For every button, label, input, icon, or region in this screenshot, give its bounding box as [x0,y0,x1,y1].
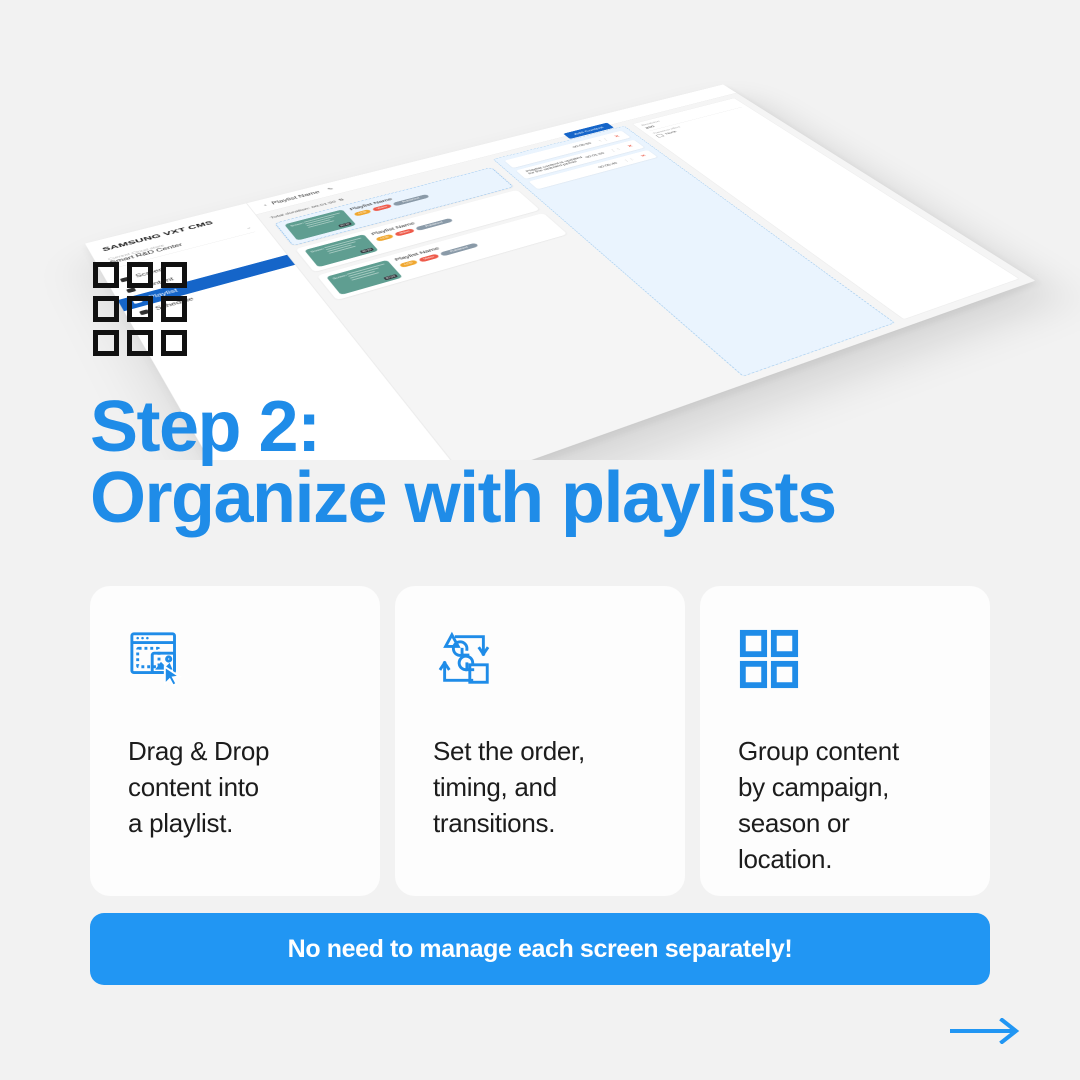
back-icon[interactable]: ‹ [263,203,269,207]
playlist-card-meta: Playlist Name LCD Video Published [348,172,504,224]
editor-row-controls: 00:01:00 ⋮⋮ ✕ [584,144,635,159]
playlist-card[interactable]: Screen 00:10 Playlist Name LCD Video Pub… [275,167,514,245]
drag-handle-icon[interactable]: ⋮⋮ [622,157,636,162]
feature-card-order-timing: Set the order, timing, and transitions. [395,586,685,896]
grid-cell [93,296,119,322]
thumbnail-duration-badge: 00:10 [338,222,352,228]
playlist-thumbnail: Screen 00:20 [326,260,403,295]
resolution-value: 200 [644,103,742,131]
playlist-card-name: Playlist Name [393,217,544,262]
playlist-card-name: Playlist Name [370,194,518,236]
editor-row[interactable]: 00:00:40 ⋮⋮ ✕ [529,150,658,189]
status-badge: LCD [353,209,371,216]
grid-cell [93,330,119,356]
grid-cell [161,296,187,322]
status-badge: LCD [375,234,394,242]
feature-card-text: Group content by campaign, season or loc… [738,734,952,878]
thumbnail-duration-badge: 00:20 [383,274,398,280]
arrow-right-icon[interactable] [948,1018,1022,1044]
status-badge: Published [415,218,453,231]
editor-row-controls: 00:00:50 ⋮⋮ ✕ [571,134,621,149]
sort-icon[interactable]: ⇅ [337,198,345,202]
editor-row-duration: 00:00:50 [572,142,593,149]
editor-row-controls: 00:00:40 ⋮⋮ ✕ [597,154,648,170]
delete-icon[interactable]: ✕ [613,134,622,138]
cta-banner[interactable]: No need to manage each screen separately… [90,913,990,985]
feature-card-text: Drag & Drop content into a playlist. [128,734,342,842]
grid-3x3-icon [93,262,187,356]
grid-group-icon [738,628,800,690]
resolution-label: Resolution [641,101,735,126]
checkbox-label: None [665,130,678,135]
drag-handle-icon[interactable]: ⋮⋮ [609,147,623,152]
grid-cell [161,262,187,288]
feature-card-text: Set the order, timing, and transitions. [433,734,647,842]
drag-handle-icon[interactable]: ⋮⋮ [596,138,609,143]
delete-icon[interactable]: ✕ [639,154,648,159]
playlist-card-name: Playlist Name [348,172,491,211]
transitions-shuffle-icon [433,628,495,690]
feature-card-group-content: Group content by campaign, season or loc… [700,586,990,896]
status-badge: Published [439,243,478,257]
status-badge: Video [394,228,415,236]
status-badge: Published [392,194,430,206]
status-badge: LCD [399,260,419,268]
cms-breadcrumb-bar: ‹ Playlist Name ✎ [247,84,737,214]
thumbnail-lines [303,213,345,229]
playlist-card[interactable]: Screen 00:30 Playlist Name LCD Video Pub… [295,190,540,272]
feature-card-list: Drag & Drop content into a playlist. Set… [90,586,990,896]
checkbox-icon[interactable] [655,134,664,138]
page-headline: Step 2: Organize with playlists [90,392,1030,533]
headline-line-1: Step 2: [90,387,320,467]
editor-row-name: Playlist content is updated for the sele… [525,156,588,175]
cta-label: No need to manage each screen separately… [288,935,793,964]
grid-cell [161,330,187,356]
thumbnail-label: Screen [332,274,347,280]
cms-brand-logo: SAMSUNG VXT CMS [88,208,259,262]
drag-drop-image-icon [128,628,190,690]
playlist-card-meta: Playlist Name LCD Video Published [393,217,558,275]
chevron-down-icon[interactable]: ⌄ [245,225,253,230]
editor-row-duration: 00:01:00 [585,152,606,159]
add-content-button[interactable]: Add Content [563,123,614,139]
editor-row[interactable]: Playlist content is updated for the sele… [516,140,645,179]
thumbnail-lines [324,238,367,255]
headline-line-2: Organize with playlists [90,463,1030,534]
grid-cell [127,262,153,288]
editor-row[interactable]: 00:00:50 ⋮⋮ ✕ [504,131,630,168]
transition-none-checkbox[interactable]: None [655,111,751,138]
playlist-card-badges: LCD Video Published [399,223,551,268]
thumbnail-label: Screen [310,248,325,254]
playlist-card-meta: Playlist Name LCD Video Published [370,194,531,249]
playlist-card-badges: LCD Video Published [375,199,523,242]
thumbnail-label: Screen [290,222,304,227]
thumbnail-lines [346,264,391,282]
editor-row-duration: 00:00:40 [598,162,619,169]
grid-cell [127,330,153,356]
thumbnail-duration-badge: 00:30 [360,248,375,254]
playlist-editor-dropzone[interactable]: Add Content 00:00:50 ⋮⋮ ✕ Playlist conte… [493,126,895,377]
grid-cell [127,296,153,322]
grid-cell [93,262,119,288]
pencil-icon[interactable]: ✎ [326,186,335,191]
properties-panel: Resolution 200 Transition effect None [632,98,1020,320]
page-title: Playlist Name [271,190,321,205]
total-duration-label: Total duration: 00:01:50 ⇅ [269,161,488,219]
delete-icon[interactable]: ✕ [626,144,635,148]
playlist-card[interactable]: Screen 00:20 Playlist Name LCD Video Pub… [317,213,568,300]
playlist-thumbnail: Screen 00:30 [304,234,378,267]
cms-org-label: Current Cloud store [108,223,250,261]
transition-label: Transition effect [652,109,747,135]
playlist-card-badges: LCD Video Published [353,177,497,217]
status-badge: Video [372,204,392,212]
feature-card-drag-drop: Drag & Drop content into a playlist. [90,586,380,896]
status-badge: Video [418,254,440,263]
playlist-thumbnail: Screen 00:10 [284,209,356,240]
